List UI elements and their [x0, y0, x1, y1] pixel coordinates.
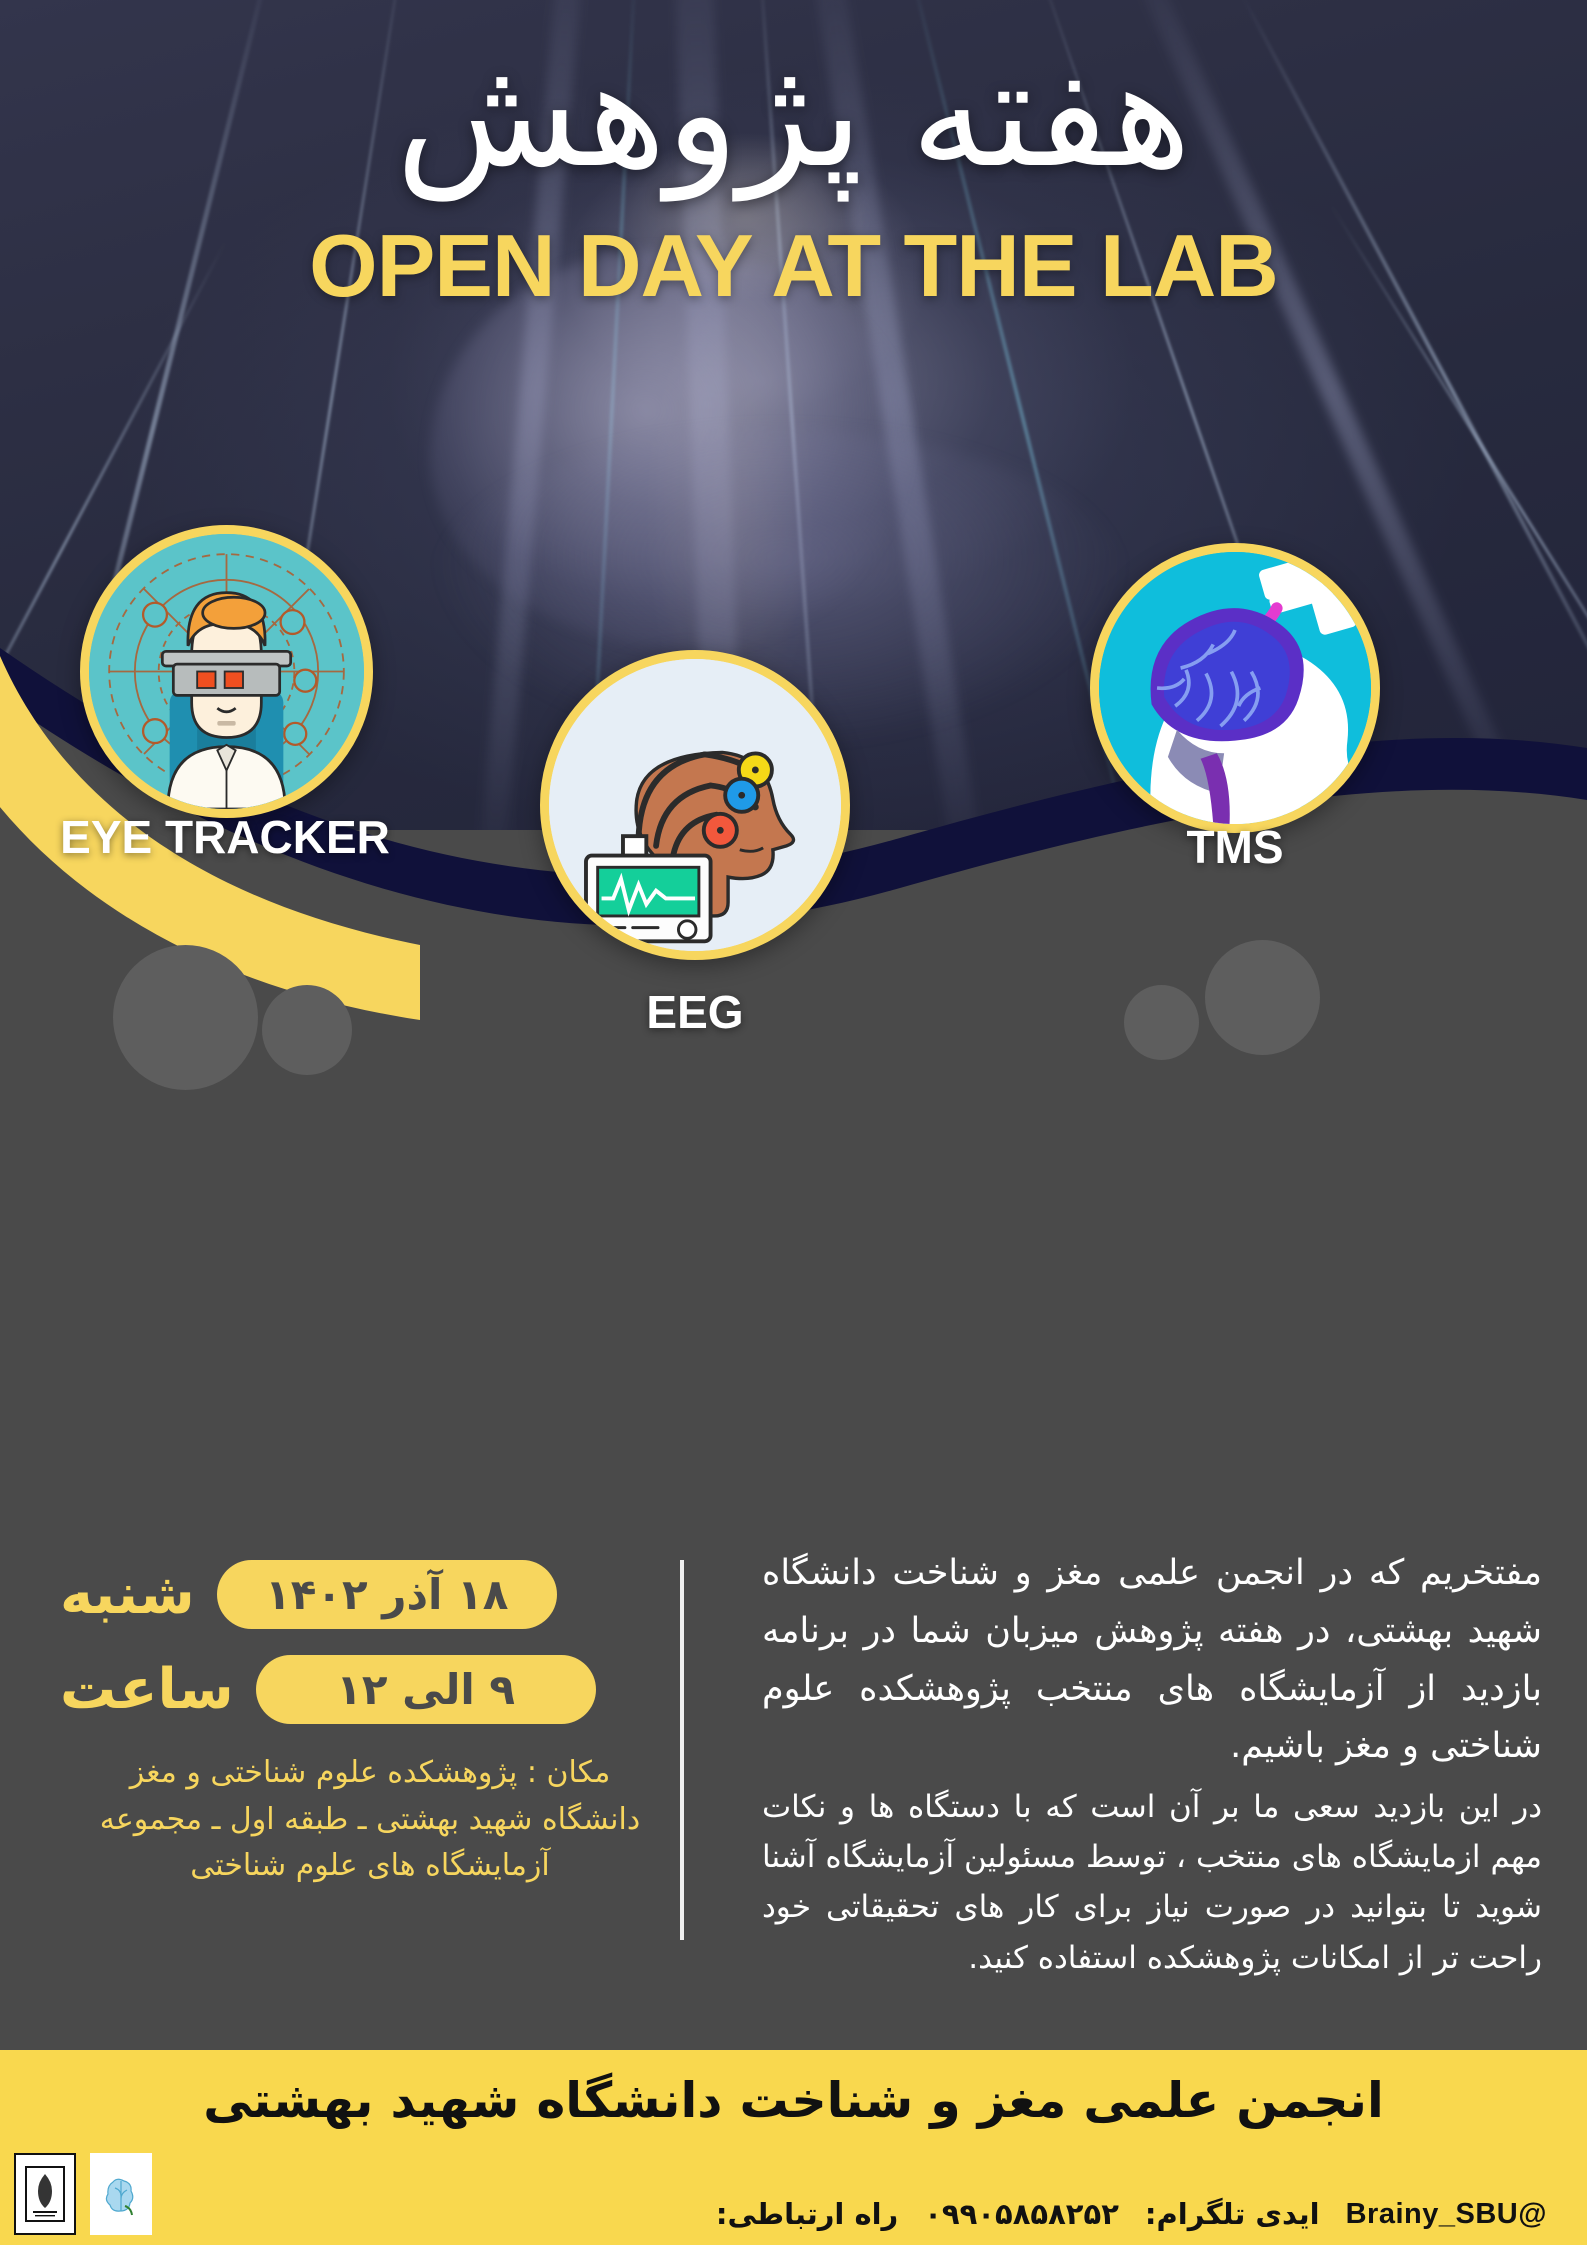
decorative-blob: [262, 985, 352, 1075]
poster-title-persian: هفته پژوهش: [0, 28, 1587, 201]
brain-association-logo: [90, 2153, 152, 2235]
event-place-line-3: آزمایشگاه های علوم شناختی: [60, 1843, 680, 1890]
eeg-label: EEG: [520, 985, 870, 1039]
description-block: مفتخریم که در انجمن علمی مغز و شناخت دان…: [762, 1545, 1542, 1983]
event-place-line-2: دانشگاه شهید بهشتی ـ طبقه اول ـ مجموعه: [60, 1797, 680, 1844]
poster-title-english: OPEN DAY AT THE LAB: [0, 215, 1587, 317]
decorative-blob: [1205, 940, 1320, 1055]
event-info-block: ۱۸ آذر ۱۴۰۲ شنبه ۹ الی ۱۲ ساعت مکان : پژ…: [60, 1560, 680, 1890]
description-paragraph-2: در این بازدید سعی ما بر آن است که با دست…: [762, 1782, 1542, 1983]
event-place-line-1: مکان : پژوهشکده علوم شناختی و مغز: [60, 1750, 680, 1797]
eeg-icon: [540, 650, 850, 960]
telegram-label: ایدی تلگرام:: [1145, 2197, 1320, 2231]
description-paragraph-1: مفتخریم که در انجمن علمی مغز و شناخت دان…: [762, 1545, 1542, 1776]
event-time-label: ساعت: [60, 1662, 234, 1718]
contact-label: راه ارتباطی:: [716, 2197, 898, 2231]
decorative-blob: [113, 945, 258, 1090]
tms-icon: [1090, 543, 1380, 833]
event-date-row: ۱۸ آذر ۱۴۰۲ شنبه: [60, 1560, 680, 1629]
event-time-pill: ۹ الی ۱۲: [256, 1655, 596, 1724]
footer-contact: @Brainy_SBU ایدی تلگرام: ۰۹۹۰۵۸۵۸۲۵۲ راه…: [716, 2197, 1547, 2231]
poster-root: هفته پژوهش OPEN DAY AT THE LAB: [0, 0, 1587, 2245]
event-date-pill: ۱۸ آذر ۱۴۰۲: [217, 1560, 557, 1629]
eye-tracker-icon: [80, 525, 373, 818]
contact-phone: ۰۹۹۰۵۸۵۸۲۵۲: [924, 2197, 1119, 2231]
event-time-row: ۹ الی ۱۲ ساعت: [60, 1655, 680, 1724]
shahid-beheshti-university-logo: [14, 2153, 76, 2235]
footer-band: انجمن علمی مغز و شناخت دانشگاه شهید بهشت…: [0, 2050, 1587, 2245]
event-day-label: شنبه: [60, 1567, 195, 1623]
eye-tracker-label: EYE TRACKER: [0, 810, 450, 864]
telegram-handle[interactable]: @Brainy_SBU: [1346, 2198, 1547, 2231]
organization-name: انجمن علمی مغز و شناخت دانشگاه شهید بهشت…: [0, 2072, 1587, 2129]
vertical-divider: [680, 1560, 684, 1940]
footer-logos: [14, 2153, 152, 2235]
decorative-blob: [1124, 985, 1199, 1060]
tms-label: TMS: [1090, 820, 1380, 874]
